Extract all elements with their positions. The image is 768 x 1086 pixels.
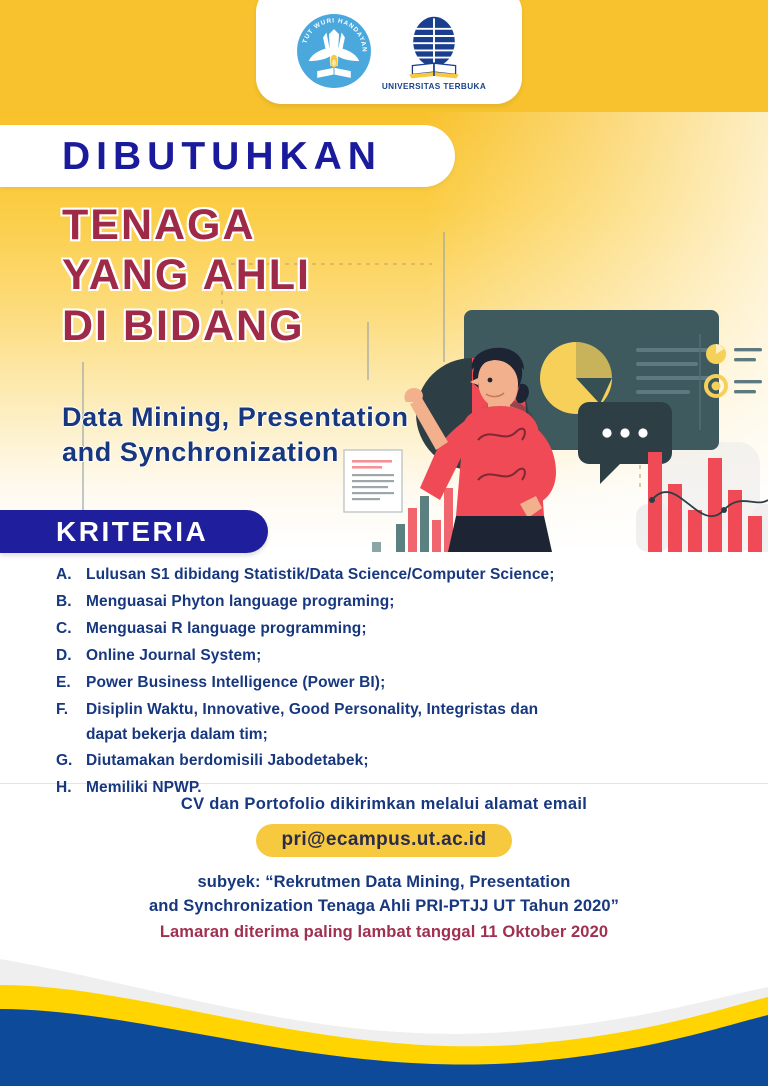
criteria-text: Power Business Intelligence (Power BI); <box>86 670 385 696</box>
dibutuhkan-label: DIBUTUHKAN <box>0 137 382 176</box>
headline-line-2: YANG AHLI <box>62 250 311 300</box>
subheadline-line-1: Data Mining, Presentation <box>62 400 409 435</box>
criteria-text: Menguasai Phyton language programing; <box>86 589 395 615</box>
criteria-text: Diutamakan berdomisili Jabodetabek; <box>86 748 369 774</box>
criteria-item-f-continuation: dapat bekerja dalam tim; <box>0 722 768 748</box>
recruitment-poster: TUT WURI HANDAYANI <box>0 0 768 1086</box>
criteria-item-a: A. Lulusan S1 dibidang Statistik/Data Sc… <box>0 562 768 588</box>
criteria-item-f: F. Disiplin Waktu, Innovative, Good Pers… <box>0 697 768 723</box>
submission-instruction: CV dan Portofolio dikirimkan melalui ala… <box>0 795 768 814</box>
criteria-item-g: G. Diutamakan berdomisili Jabodetabek; <box>0 748 768 774</box>
criteria-letter: E. <box>56 670 86 696</box>
criteria-letter: F. <box>56 697 86 723</box>
criteria-text: Menguasai R language programming; <box>86 616 367 642</box>
bottom-wave-decoration <box>0 951 768 1086</box>
email-address-pill[interactable]: pri@ecampus.ut.ac.id <box>256 824 513 857</box>
application-deadline: Lamaran diterima paling lambat tanggal 1… <box>0 923 768 942</box>
criteria-item-b: B. Menguasai Phyton language programing; <box>0 589 768 615</box>
subheadline-line-2: and Synchronization <box>62 435 409 470</box>
universitas-terbuka-logo <box>398 15 470 81</box>
criteria-letter: D. <box>56 643 86 669</box>
headline-line-3: DI BIDANG <box>62 301 311 351</box>
email-subject-line-2: and Synchronization Tenaga Ahli PRI-PTJJ… <box>0 895 768 919</box>
headline-block: TENAGA YANG AHLI DI BIDANG <box>62 200 311 351</box>
kriteria-label: KRITERIA <box>0 516 208 548</box>
criteria-letter: G. <box>56 748 86 774</box>
criteria-letter: A. <box>56 562 86 588</box>
criteria-letter: B. <box>56 589 86 615</box>
subheadline-block: Data Mining, Presentation and Synchroniz… <box>62 400 409 470</box>
criteria-item-e: E. Power Business Intelligence (Power BI… <box>0 670 768 696</box>
email-subject-line-1: subyek: “Rekrutmen Data Mining, Presenta… <box>0 871 768 895</box>
criteria-item-c: C. Menguasai R language programming; <box>0 616 768 642</box>
criteria-item-d: D. Online Journal System; <box>0 643 768 669</box>
headline-line-1: TENAGA <box>62 200 311 250</box>
criteria-text: Disiplin Waktu, Innovative, Good Persona… <box>86 697 538 723</box>
criteria-text: Lulusan S1 dibidang Statistik/Data Scien… <box>86 562 555 588</box>
email-subject-block: subyek: “Rekrutmen Data Mining, Presenta… <box>0 871 768 919</box>
criteria-list: A. Lulusan S1 dibidang Statistik/Data Sc… <box>0 562 768 802</box>
criteria-text: Online Journal System; <box>86 643 261 669</box>
logo-card: TUT WURI HANDAYANI <box>256 0 522 104</box>
tut-wuri-handayani-logo: TUT WURI HANDAYANI <box>292 9 376 93</box>
dibutuhkan-banner: DIBUTUHKAN <box>0 125 455 187</box>
footer-section: CV dan Portofolio dikirimkan melalui ala… <box>0 795 768 942</box>
criteria-letter: C. <box>56 616 86 642</box>
universitas-terbuka-block: UNIVERSITAS TERBUKA <box>382 15 486 91</box>
universitas-terbuka-label: UNIVERSITAS TERBUKA <box>382 82 486 91</box>
kriteria-banner: KRITERIA <box>0 510 268 553</box>
